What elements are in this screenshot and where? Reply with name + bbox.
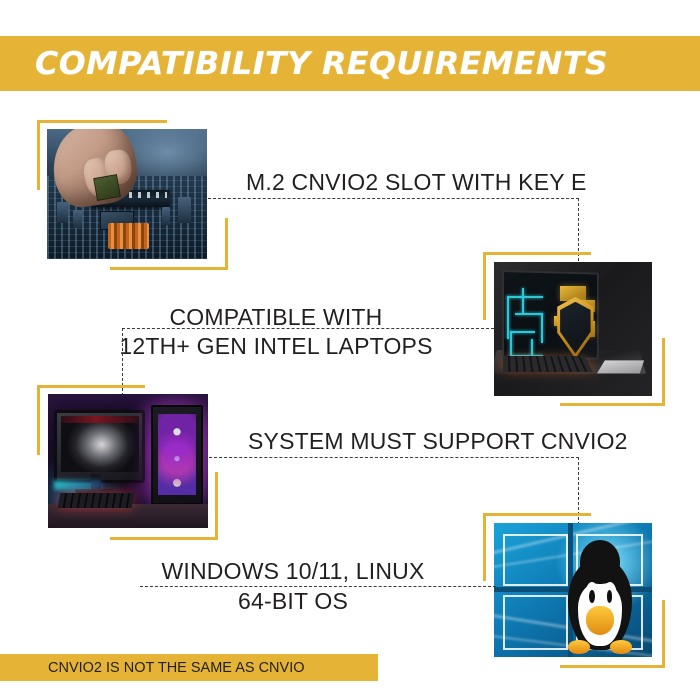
feature-4-text-line-1: WINDOWS 10/11, LINUX bbox=[141, 557, 445, 586]
connector-1-horizontal bbox=[203, 198, 579, 199]
page-title: COMPATIBILITY REQUIREMENTS bbox=[35, 46, 608, 82]
image-laptop-shield bbox=[494, 262, 652, 396]
infographic-canvas: COMPATIBILITY REQUIREMENTS M.2 CNVIO2 SL… bbox=[0, 0, 700, 700]
image-motherboard-module bbox=[47, 129, 207, 259]
connector-3-horizontal bbox=[204, 457, 579, 458]
connector-2-horizontal bbox=[122, 328, 494, 329]
footer-note: CNVIO2 IS NOT THE SAME AS CNVIO bbox=[48, 660, 305, 676]
connector-4-horizontal bbox=[140, 586, 496, 587]
feature-3-text-line-1: SYSTEM MUST SUPPORT CNVIO2 bbox=[248, 427, 628, 456]
footer-banner: CNVIO2 IS NOT THE SAME AS CNVIO bbox=[0, 654, 378, 681]
feature-4-text-line-2: 64-BIT OS bbox=[141, 587, 445, 616]
header-banner: COMPATIBILITY REQUIREMENTS bbox=[0, 36, 700, 91]
feature-1-text-line-1: M.2 CNVIO2 SLOT WITH KEY E bbox=[246, 168, 587, 197]
feature-2-text-line-2: 12TH+ GEN INTEL LAPTOPS bbox=[107, 332, 445, 361]
image-windows-linux-logo bbox=[494, 523, 652, 657]
image-rgb-gaming-pc bbox=[48, 394, 208, 528]
tux-penguin-icon bbox=[564, 540, 637, 650]
